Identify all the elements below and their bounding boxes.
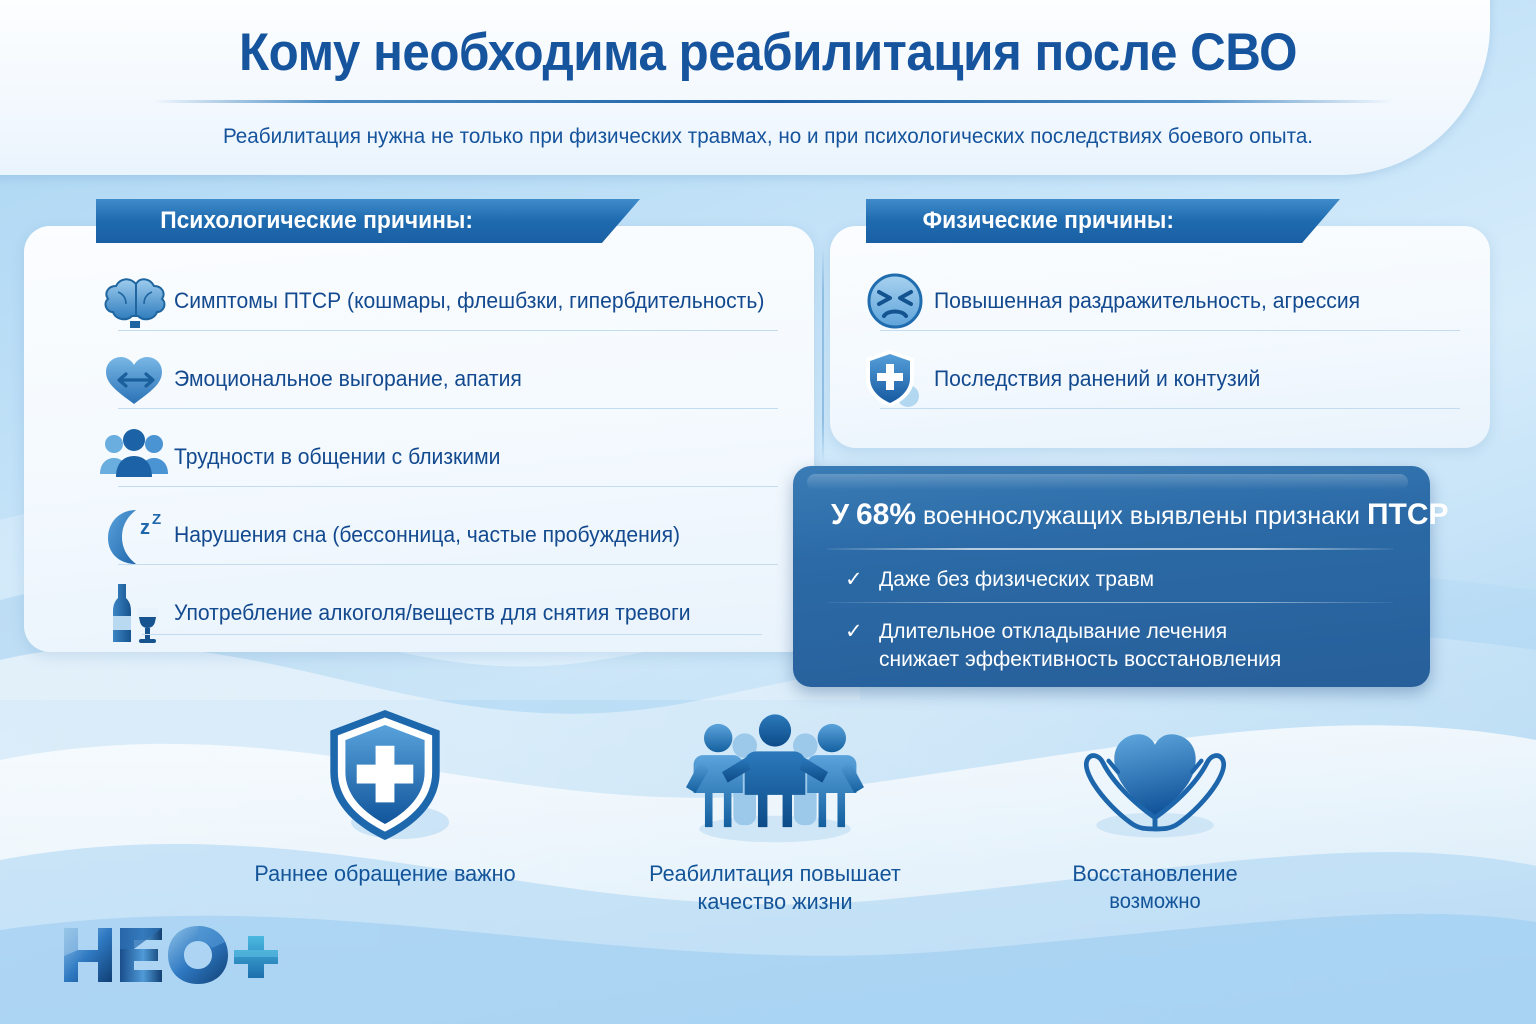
statistic-divider	[827, 548, 1393, 550]
check-icon: ✓	[845, 618, 879, 646]
outcome-label-line1: Восстановление	[992, 860, 1318, 888]
outcome-label-line2: возможно	[992, 888, 1318, 916]
people-group-icon	[96, 422, 174, 492]
psychological-causes-heading-label: Психологические причины:	[160, 207, 473, 235]
outcome-label-line1: Раннее обращение важно	[222, 860, 548, 888]
angry-face-icon	[856, 266, 934, 336]
check-icon: ✓	[845, 566, 879, 594]
title-divider	[152, 100, 1394, 103]
statistic-suffix: военнослужащих выявлены признаки	[923, 502, 1360, 530]
statistic-divider-2	[827, 602, 1393, 603]
list-item: Повышенная раздражительность, агрессия	[856, 266, 1476, 336]
brand-logo	[58, 920, 288, 990]
list-item-label: Трудности в общении с близкими	[174, 444, 500, 470]
psychological-causes-heading: Психологические причины:	[96, 199, 640, 243]
list-item-label: Эмоциональное выгорание, апатия	[174, 366, 522, 392]
outcome-label-line2: качество жизни	[612, 888, 938, 916]
svg-text:z: z	[140, 517, 150, 539]
physical-causes-heading-label: Физические причины:	[923, 207, 1174, 235]
list-item-label: Последствия ранений и контузий	[934, 366, 1260, 392]
outcome-item: Реабилитация повышает качество жизни	[605, 706, 945, 916]
statistic-keyword: ПТСР	[1367, 498, 1449, 531]
list-item-label: Нарушения сна (бессонница, частые пробуж…	[174, 522, 680, 548]
outcome-label-line1: Реабилитация повышает	[612, 860, 938, 888]
list-divider	[880, 408, 1460, 409]
statistic-headline: У 68% военнослужащих выявлены признаки П…	[831, 498, 1449, 532]
people-team-icon	[605, 706, 945, 846]
statistic-value: 68%	[856, 498, 916, 531]
physical-causes-card	[830, 226, 1490, 448]
list-divider	[142, 634, 762, 635]
list-item: Симптомы ПТСР (кошмары, флешбзки, гиперб…	[96, 266, 796, 336]
statistic-callout: У 68% военнослужащих выявлены признаки П…	[793, 466, 1430, 687]
list-divider	[880, 330, 1460, 331]
statistic-bullet-text: Длительное откладывание лечения снижает …	[879, 618, 1281, 674]
shield-cross-icon	[856, 344, 934, 414]
hands-heart-icon	[985, 706, 1325, 846]
list-item: Эмоциональное выгорание, апатия	[96, 344, 796, 414]
list-item-label: Симптомы ПТСР (кошмары, флешбзки, гиперб…	[174, 288, 764, 314]
list-item: Употребление алкоголя/веществ для снятия…	[96, 578, 796, 648]
bottle-glass-icon	[96, 578, 174, 648]
moon-sleep-icon: z Z	[96, 500, 174, 570]
heart-burnout-icon	[96, 344, 174, 414]
outcome-label: Раннее обращение важно	[222, 860, 548, 888]
outcome-item: Восстановление возможно	[985, 706, 1325, 916]
statistic-bullet: ✓ Даже без физических травм	[845, 566, 1405, 594]
statistic-bullet-text: Даже без физических травм	[879, 566, 1154, 594]
outcome-label: Восстановление возможно	[992, 860, 1318, 916]
statistic-prefix: У	[831, 499, 849, 531]
list-item: Последствия ранений и контузий	[856, 344, 1476, 414]
statistic-bullet: ✓ Длительное откладывание лечения снижае…	[845, 618, 1405, 674]
outcome-label: Реабилитация повышает качество жизни	[612, 860, 938, 916]
list-divider	[118, 408, 778, 409]
outcomes-section: Раннее обращение важно	[0, 706, 1536, 936]
list-item: z Z Нарушения сна (бессонница, частые пр…	[96, 500, 796, 570]
brain-icon	[96, 266, 174, 336]
list-item-label: Употребление алкоголя/веществ для снятия…	[174, 600, 691, 626]
shield-cross-icon	[215, 706, 555, 846]
column-divider	[822, 248, 824, 463]
list-item-label: Повышенная раздражительность, агрессия	[934, 288, 1360, 314]
page-subtitle: Реабилитация нужна не только при физичес…	[31, 124, 1506, 149]
list-divider	[118, 564, 778, 565]
list-divider	[118, 486, 778, 487]
list-item: Трудности в общении с близкими	[96, 422, 796, 492]
infographic-root: Кому необходима реабилитация после СВО Р…	[0, 0, 1536, 1024]
outcome-item: Раннее обращение важно	[215, 706, 555, 888]
svg-text:Z: Z	[152, 511, 161, 528]
list-divider	[118, 330, 778, 331]
physical-causes-heading: Физические причины:	[866, 199, 1340, 243]
page-title: Кому необходима реабилитация после СВО	[54, 22, 1482, 83]
